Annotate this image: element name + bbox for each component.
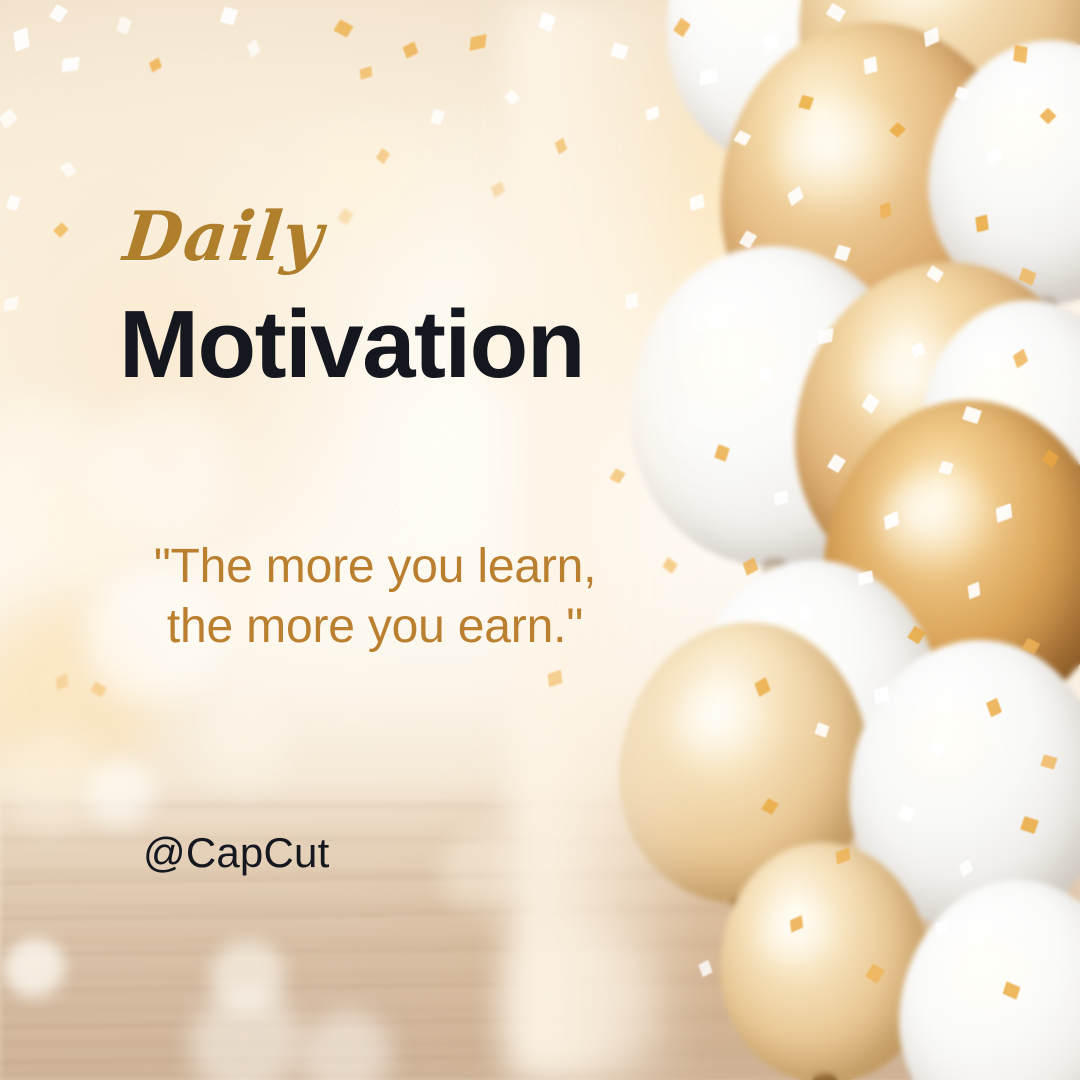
quote-line-1: "The more you learn, xyxy=(80,537,670,597)
script-headline-daily: Daily xyxy=(120,203,326,271)
main-headline-motivation: Motivation xyxy=(119,297,584,393)
quote-block: "The more you learn, the more you earn." xyxy=(80,537,670,658)
social-post-canvas: Daily Motivation "The more you learn, th… xyxy=(0,0,1080,1080)
text-content: Daily Motivation "The more you learn, th… xyxy=(0,0,1080,1080)
account-handle: @CapCut xyxy=(143,832,329,874)
quote-line-2: the more you earn." xyxy=(80,597,670,657)
